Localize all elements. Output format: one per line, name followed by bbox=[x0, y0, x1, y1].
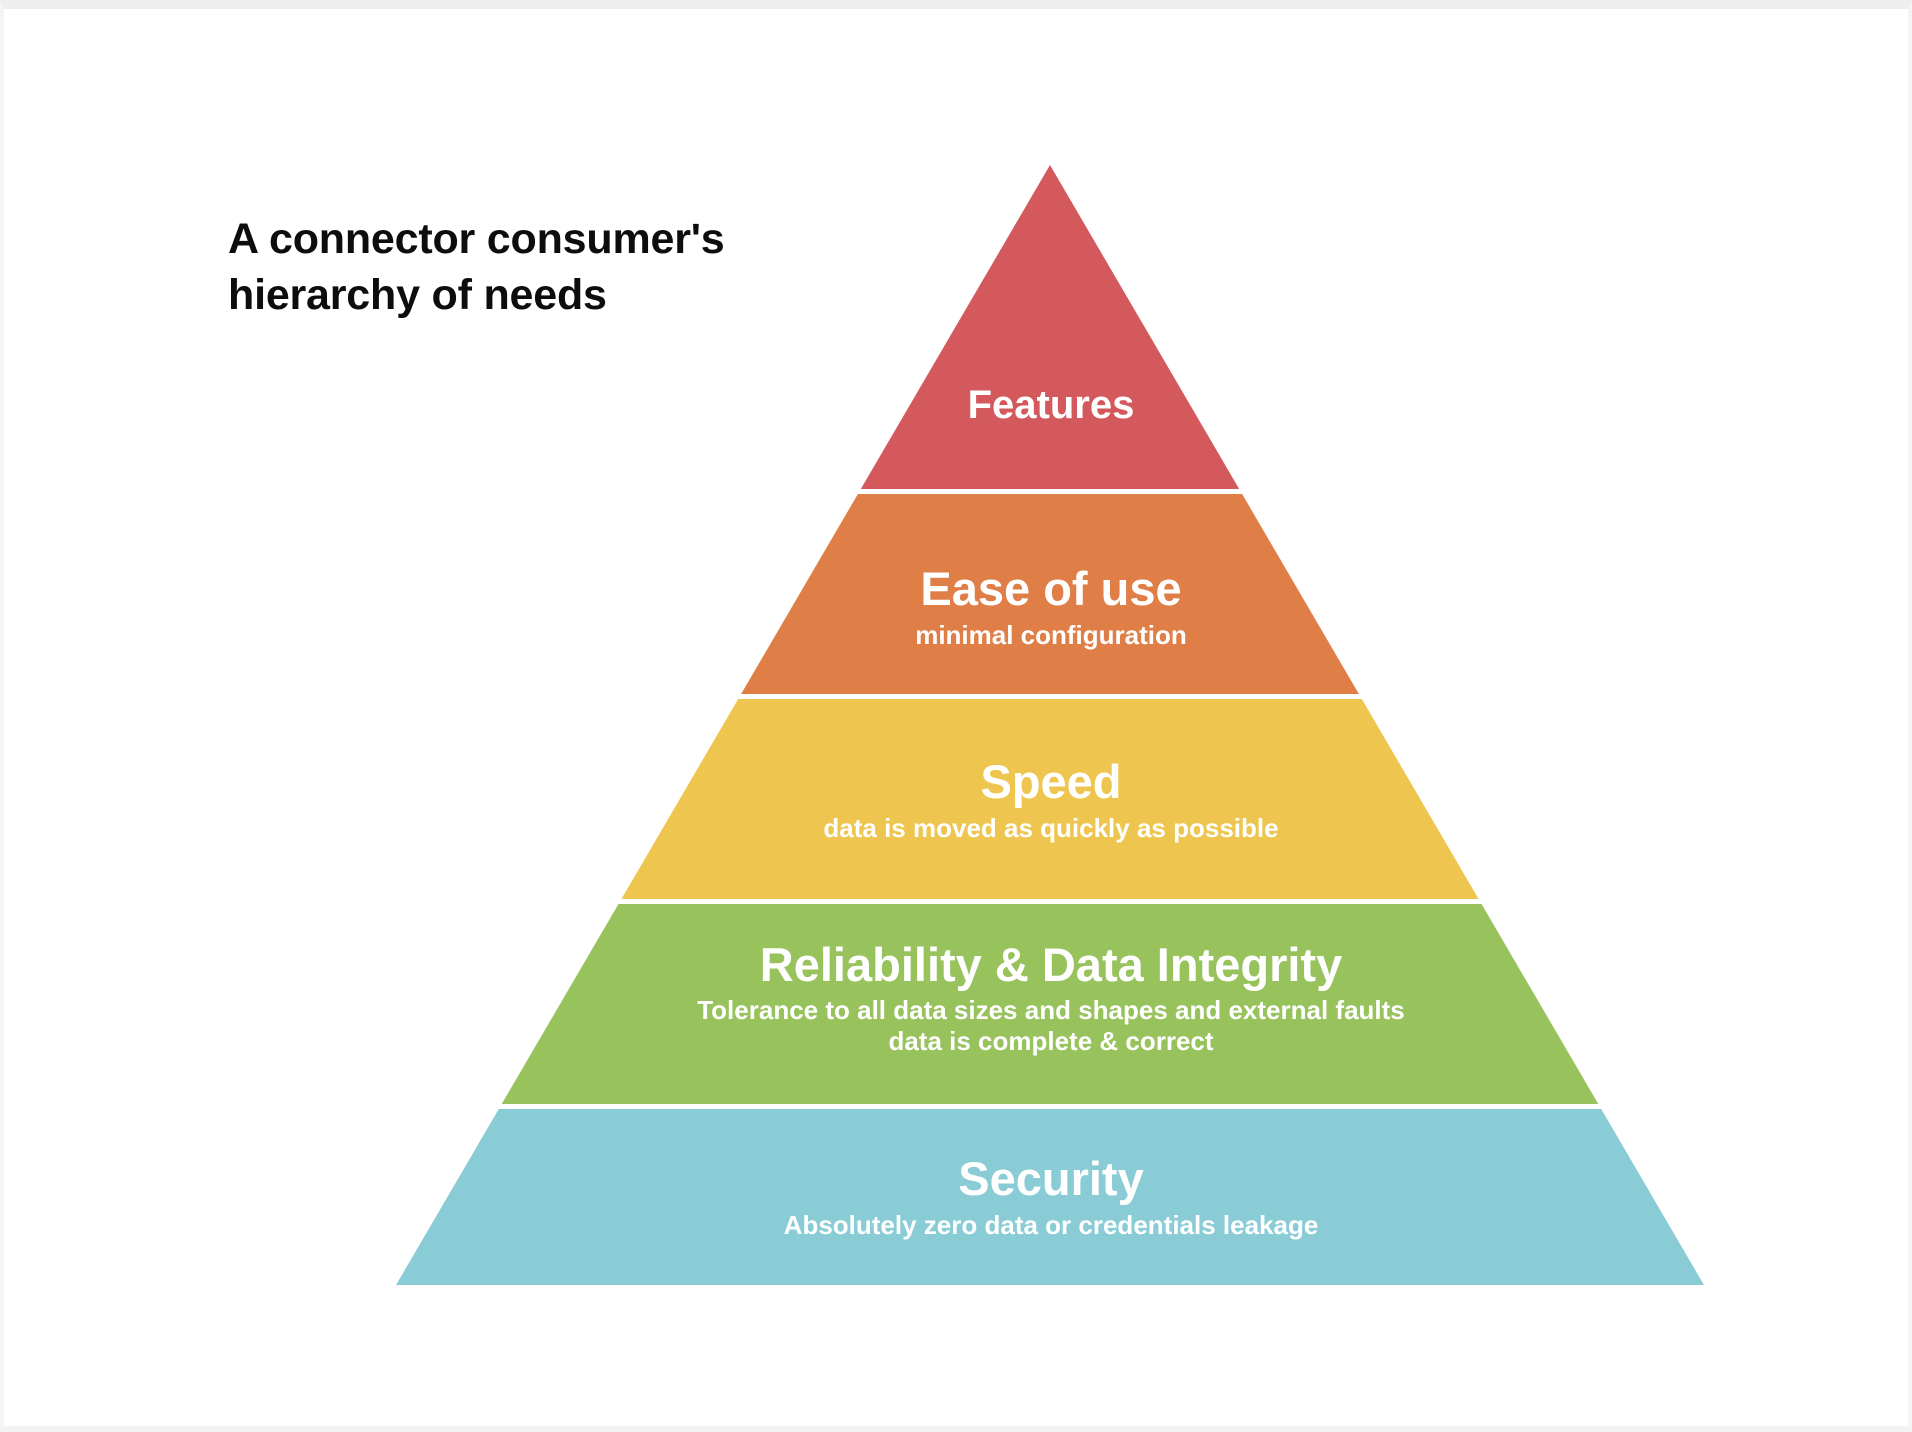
pyramid-tier-ease-of-use-shape[interactable] bbox=[741, 494, 1359, 694]
page-title-line-1: A connector consumer's bbox=[228, 212, 888, 268]
pyramid-tier-reliability-shape[interactable] bbox=[502, 904, 1599, 1104]
pyramid-tier-features-shape[interactable] bbox=[861, 165, 1239, 489]
pyramid-tier-speed-shape[interactable] bbox=[621, 699, 1478, 899]
page-title-line-2: hierarchy of needs bbox=[228, 268, 888, 324]
page-title: A connector consumer's hierarchy of need… bbox=[228, 212, 888, 324]
pyramid-tier-security-shape[interactable] bbox=[396, 1109, 1704, 1285]
